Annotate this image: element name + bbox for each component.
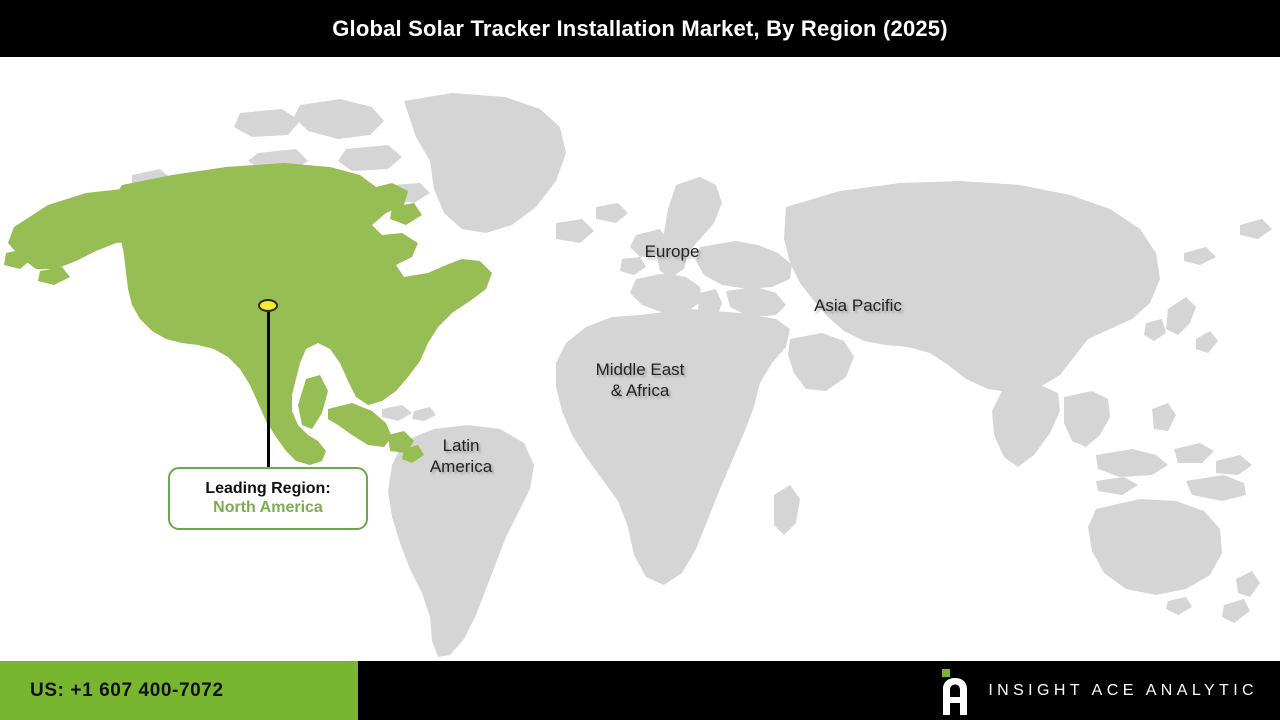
footer-bar: US: +1 607 400-7072 INSIGHT ACE ANALYTIC: [0, 661, 1280, 720]
header-bar: Global Solar Tracker Installation Market…: [0, 0, 1280, 57]
insight-ace-logo-icon: [938, 667, 972, 715]
callout-region-value: North America: [213, 499, 323, 517]
world-map-graphic: [0, 57, 1280, 661]
callout-leader-line: [267, 308, 270, 470]
logo-letter-a-icon: [941, 677, 969, 715]
footer-contact-panel: US: +1 607 400-7072: [0, 661, 358, 720]
map-location-marker-icon: [258, 299, 278, 312]
world-map-container: Europe Asia Pacific Middle East & Africa…: [0, 57, 1280, 661]
page-title: Global Solar Tracker Installation Market…: [332, 16, 948, 42]
brand-name: INSIGHT ACE ANALYTIC: [988, 682, 1258, 700]
footer-phone-number: US: +1 607 400-7072: [30, 680, 224, 702]
logo-square-accent-icon: [942, 669, 950, 677]
callout-title: Leading Region:: [205, 480, 330, 498]
leading-region-callout: Leading Region: North America: [168, 467, 368, 530]
brand-lockup: INSIGHT ACE ANALYTIC: [938, 661, 1258, 720]
